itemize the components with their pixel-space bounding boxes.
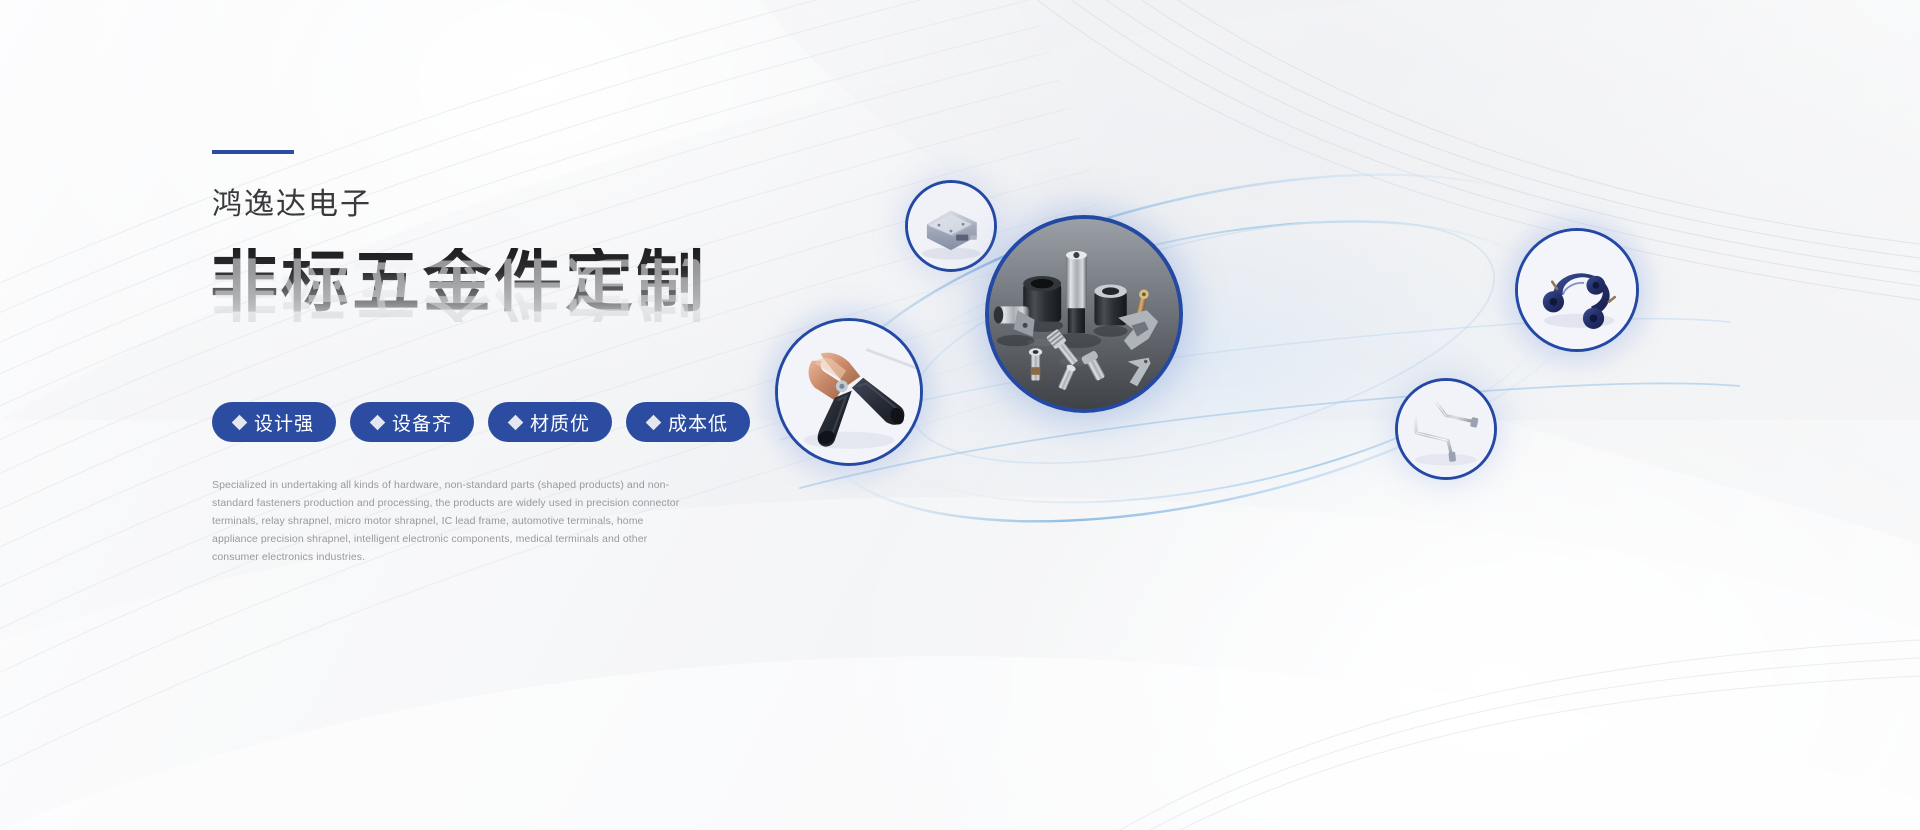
diamond-icon xyxy=(646,414,662,430)
product-bubble-battery-clamp[interactable] xyxy=(775,318,923,466)
product-bubble-precision-parts[interactable] xyxy=(985,215,1183,413)
feature-tag-label: 设备齐 xyxy=(392,409,452,436)
accent-bar xyxy=(212,150,294,154)
copper-battery-clamp-icon xyxy=(778,321,920,463)
product-visual-composition xyxy=(740,90,1740,650)
description-paragraph: Specialized in undertaking all kinds of … xyxy=(212,476,682,566)
hero-text-block: 鸿逸达电子 非标五金件定制 非标五金件定制 设计强 设备齐 材质优 成本低 xyxy=(212,150,832,566)
metal-enclosure-can-icon xyxy=(908,183,994,269)
feature-tag-label: 设计强 xyxy=(254,409,314,436)
product-bubble-retaining-clip[interactable] xyxy=(1515,228,1639,352)
feature-tag-label: 成本低 xyxy=(668,409,728,436)
feature-tag-material[interactable]: 材质优 xyxy=(488,402,612,442)
bent-terminal-pins-icon xyxy=(1398,381,1494,477)
feature-tag-cost[interactable]: 成本低 xyxy=(626,402,750,442)
feature-tag-equipment[interactable]: 设备齐 xyxy=(350,402,474,442)
feature-tag-design[interactable]: 设计强 xyxy=(212,402,336,442)
diamond-icon xyxy=(508,414,524,430)
feature-tag-label: 材质优 xyxy=(530,409,590,436)
hero-banner: 鸿逸达电子 非标五金件定制 非标五金件定制 设计强 设备齐 材质优 成本低 xyxy=(0,0,1920,830)
diamond-icon xyxy=(370,414,386,430)
retaining-clip-ring-icon xyxy=(1518,231,1636,349)
page-title: 非标五金件定制 xyxy=(210,248,832,316)
feature-tag-list: 设计强 设备齐 材质优 成本低 xyxy=(212,402,832,442)
diamond-icon xyxy=(232,414,248,430)
product-bubble-terminal-pins[interactable] xyxy=(1395,378,1497,480)
product-bubble-metal-enclosure[interactable] xyxy=(905,180,997,272)
headline-wrapper: 非标五金件定制 非标五金件定制 xyxy=(210,248,832,380)
brand-name: 鸿逸达电子 xyxy=(212,190,832,220)
precision-hardware-parts-icon xyxy=(989,219,1179,409)
